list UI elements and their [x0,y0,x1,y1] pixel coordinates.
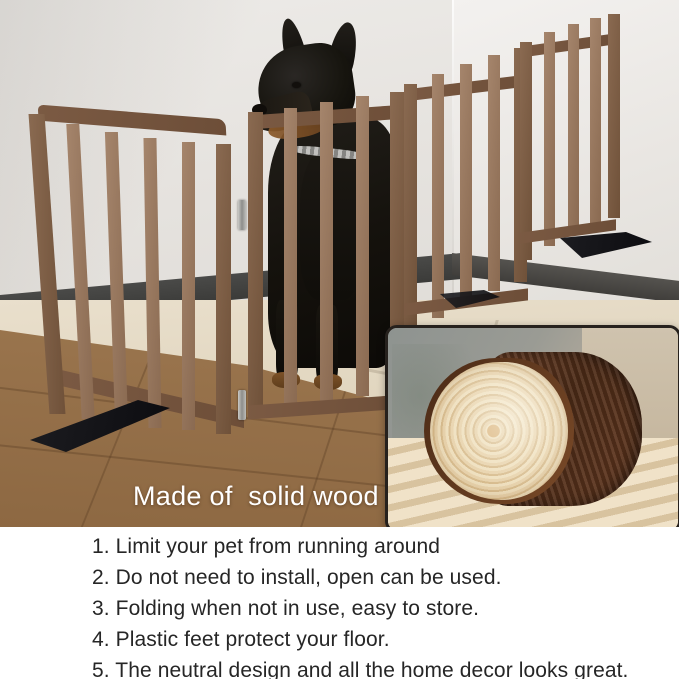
list-item-number: 3. [92,597,110,620]
list-item-number: 1. [92,535,110,558]
list-item: 2. Do not need to install, open can be u… [92,566,502,590]
list-item: 3. Folding when not in use, easy to stor… [92,597,479,621]
list-item-text: Limit your pet from running around [116,535,440,558]
log-face-highlight [430,362,568,500]
panel-three-stile-outer [404,84,417,332]
gate-panel-four [520,0,620,300]
gate-hinge-lower[interactable] [238,390,246,420]
product-image-page: Made of solid wood 1. Limit your pet fro… [0,0,679,679]
list-item-number: 5. [92,659,110,679]
list-item: 5. The neutral design and all the home d… [92,659,629,679]
list-item: 1. Limit your pet from running around [92,535,440,559]
list-item-text: Plastic feet protect your floor. [116,628,390,651]
panel-two-slat-1 [284,108,297,408]
list-item-text: Do not need to install, open can be used… [116,566,502,589]
panel-three-slat-2 [460,64,472,304]
list-item-number: 2. [92,566,110,589]
panel-left-stile-outer [29,114,66,414]
gate-hinge-upper[interactable] [238,200,246,230]
product-photo: Made of solid wood [0,0,679,527]
list-item-text: Folding when not in use, easy to store. [116,597,479,620]
cut-log [424,350,642,510]
inset-cut-log-image [385,325,679,527]
panel-three-slat-3 [488,55,500,291]
panel-three-slat-1 [432,74,444,318]
feature-list: 1. Limit your pet from running around 2.… [0,527,679,679]
panel-four-slat-2 [568,24,579,234]
list-item-text: The neutral design and all the home deco… [115,659,628,679]
panel-four-stile-inner [608,14,620,218]
panel-left-stile-inner [216,144,231,434]
list-item-number: 4. [92,628,110,651]
panel-four-slat-3 [590,18,601,224]
list-item: 4. Plastic feet protect your floor. [92,628,390,652]
gate-panel-left [0,0,260,470]
panel-left-slat-3 [143,138,161,428]
panel-four-slat-1 [544,32,555,246]
log-growth-rings [430,362,568,500]
panel-two-slat-3 [356,96,369,396]
panel-four-stile-outer [520,42,532,260]
panel-two-slat-2 [320,102,333,402]
panel-two-stile-outer [248,112,263,412]
gate-panel-three [400,0,530,360]
panel-left-slat-4 [182,142,195,430]
caption-made-of-solid-wood: Made of solid wood [133,481,379,512]
